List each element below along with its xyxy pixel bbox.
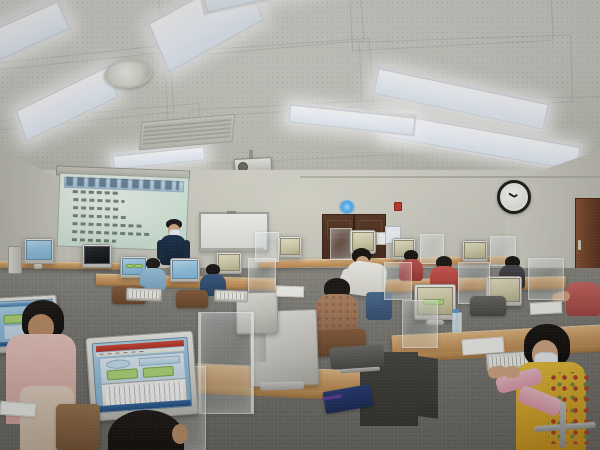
keyboard-mid-1[interactable]: [126, 287, 162, 301]
typing-highlight: [126, 264, 135, 268]
monitor-screen: [218, 254, 240, 271]
student-ear: [172, 424, 188, 444]
wall-trim: [300, 176, 600, 178]
chair-bottom-left[interactable]: [56, 404, 100, 450]
monitor-far-1[interactable]: [24, 238, 54, 264]
fire-alarm-icon: [394, 202, 402, 211]
monitor-base: [260, 381, 304, 391]
pc-tower-far: [8, 246, 22, 274]
wall-clock: [497, 180, 531, 214]
paper-front-left[interactable]: [0, 401, 36, 417]
student-torso: [566, 282, 600, 316]
blouse-pattern: [316, 294, 358, 334]
clock-face: [502, 185, 526, 209]
app-info-panel: [138, 355, 179, 366]
partition-edge: [251, 313, 253, 413]
chair-post-right: [560, 402, 566, 448]
instructor-arm-left: [157, 240, 164, 260]
monitor-screen: [84, 246, 110, 264]
keyboard-mid-2[interactable]: [214, 289, 248, 302]
ceiling: [0, 0, 600, 185]
monitor-stand: [34, 264, 42, 269]
monitor-mid-2[interactable]: [170, 258, 200, 282]
door-handle-icon[interactable]: [578, 240, 581, 250]
monitor-screen: [280, 238, 300, 255]
chair-mid-3[interactable]: [176, 290, 208, 308]
typing-input-box: [142, 365, 173, 377]
app-logo-icon: [106, 359, 131, 369]
typing-target-box: [107, 368, 138, 380]
partition-mid-4: [528, 258, 564, 300]
monitor-far-6[interactable]: [462, 240, 488, 262]
paper-mid[interactable]: [276, 286, 304, 298]
monitor-front-left[interactable]: [85, 330, 199, 421]
partition-front-center: [198, 312, 254, 414]
chair-mid-4[interactable]: [470, 296, 506, 316]
emergency-exit-sign: [338, 200, 356, 214]
whiteboard-clip: [227, 211, 236, 214]
monitor-screen: [464, 242, 486, 259]
monitor-far-2[interactable]: [82, 244, 112, 268]
typing-highlight: [134, 264, 143, 268]
partition-front-right: [402, 300, 438, 348]
partition-mid-2: [384, 262, 412, 300]
clock-hour-hand: [513, 194, 517, 198]
start-button[interactable]: [99, 410, 116, 412]
monitor-screen: [172, 260, 198, 279]
bottle-cap: [453, 309, 459, 313]
partition-mid-1: [248, 258, 276, 294]
monitor-far-3[interactable]: [278, 236, 302, 258]
monitor-screen: [26, 240, 52, 260]
partition-far-2: [330, 228, 352, 260]
paper-right[interactable]: [530, 301, 563, 315]
monitor-screen: [92, 337, 193, 414]
instructor-arm-right: [183, 240, 190, 260]
classroom-photo: Computer literacy class in a public trai…: [0, 0, 600, 450]
